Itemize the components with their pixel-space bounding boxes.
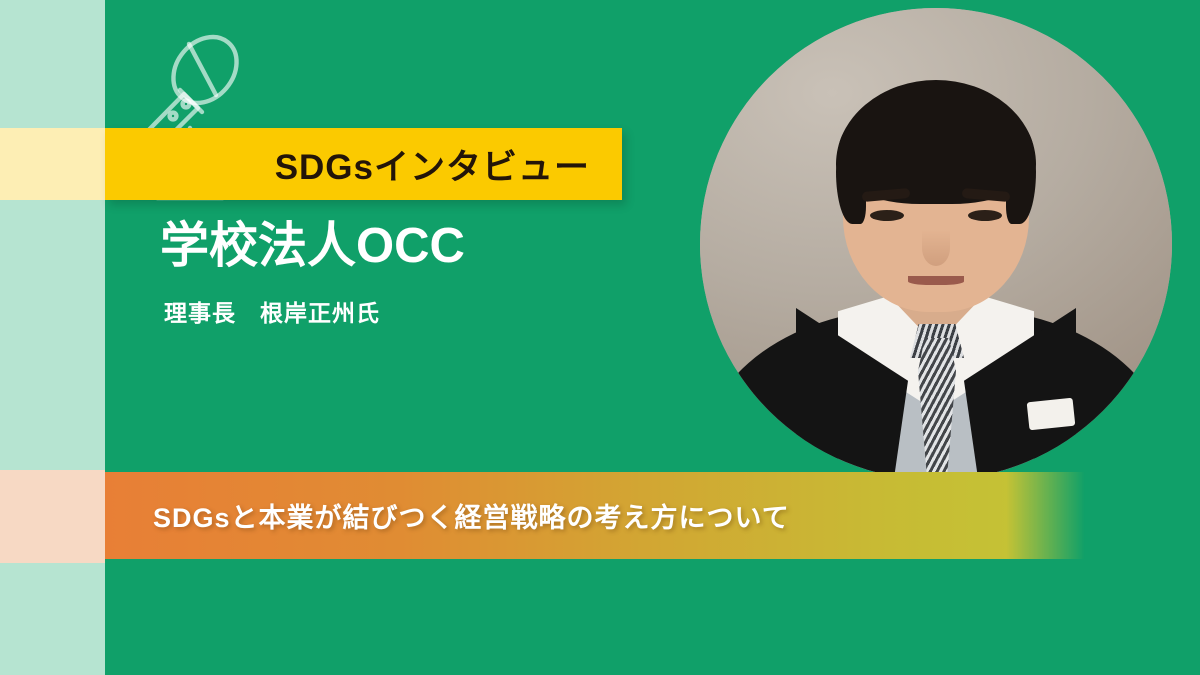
sdgs-interview-title-card: SDGsインタビュー 学校法人OCC 理事長 根岸正州氏 SDGsと本業が結びつ… [0, 0, 1200, 675]
portrait-nose [922, 230, 950, 266]
portrait-mouth [908, 276, 964, 285]
left-accent-strip-peach-band [0, 470, 105, 563]
subtitle-banner-label: SDGsと本業が結びつく経営戦略の考え方について [153, 496, 790, 535]
person-title-and-name: 理事長 根岸正州氏 [164, 294, 465, 328]
portrait-eye-right [968, 210, 1002, 221]
portrait-photo [700, 8, 1172, 480]
subtitle-banner: SDGsと本業が結びつく経営戦略の考え方について [105, 472, 1085, 559]
portrait-hair-left [836, 128, 866, 224]
portrait-pocket-square [1027, 398, 1076, 431]
portrait-eye-left [870, 210, 904, 221]
headline-block: 学校法人OCC 理事長 根岸正州氏 [160, 218, 465, 328]
organization-name: 学校法人OCC [160, 218, 465, 276]
category-ribbon-label: SDGsインタビュー [275, 139, 622, 190]
category-ribbon: SDGsインタビュー [105, 128, 622, 200]
left-accent-strip [0, 0, 105, 675]
left-accent-strip-yellow-band [0, 128, 105, 200]
